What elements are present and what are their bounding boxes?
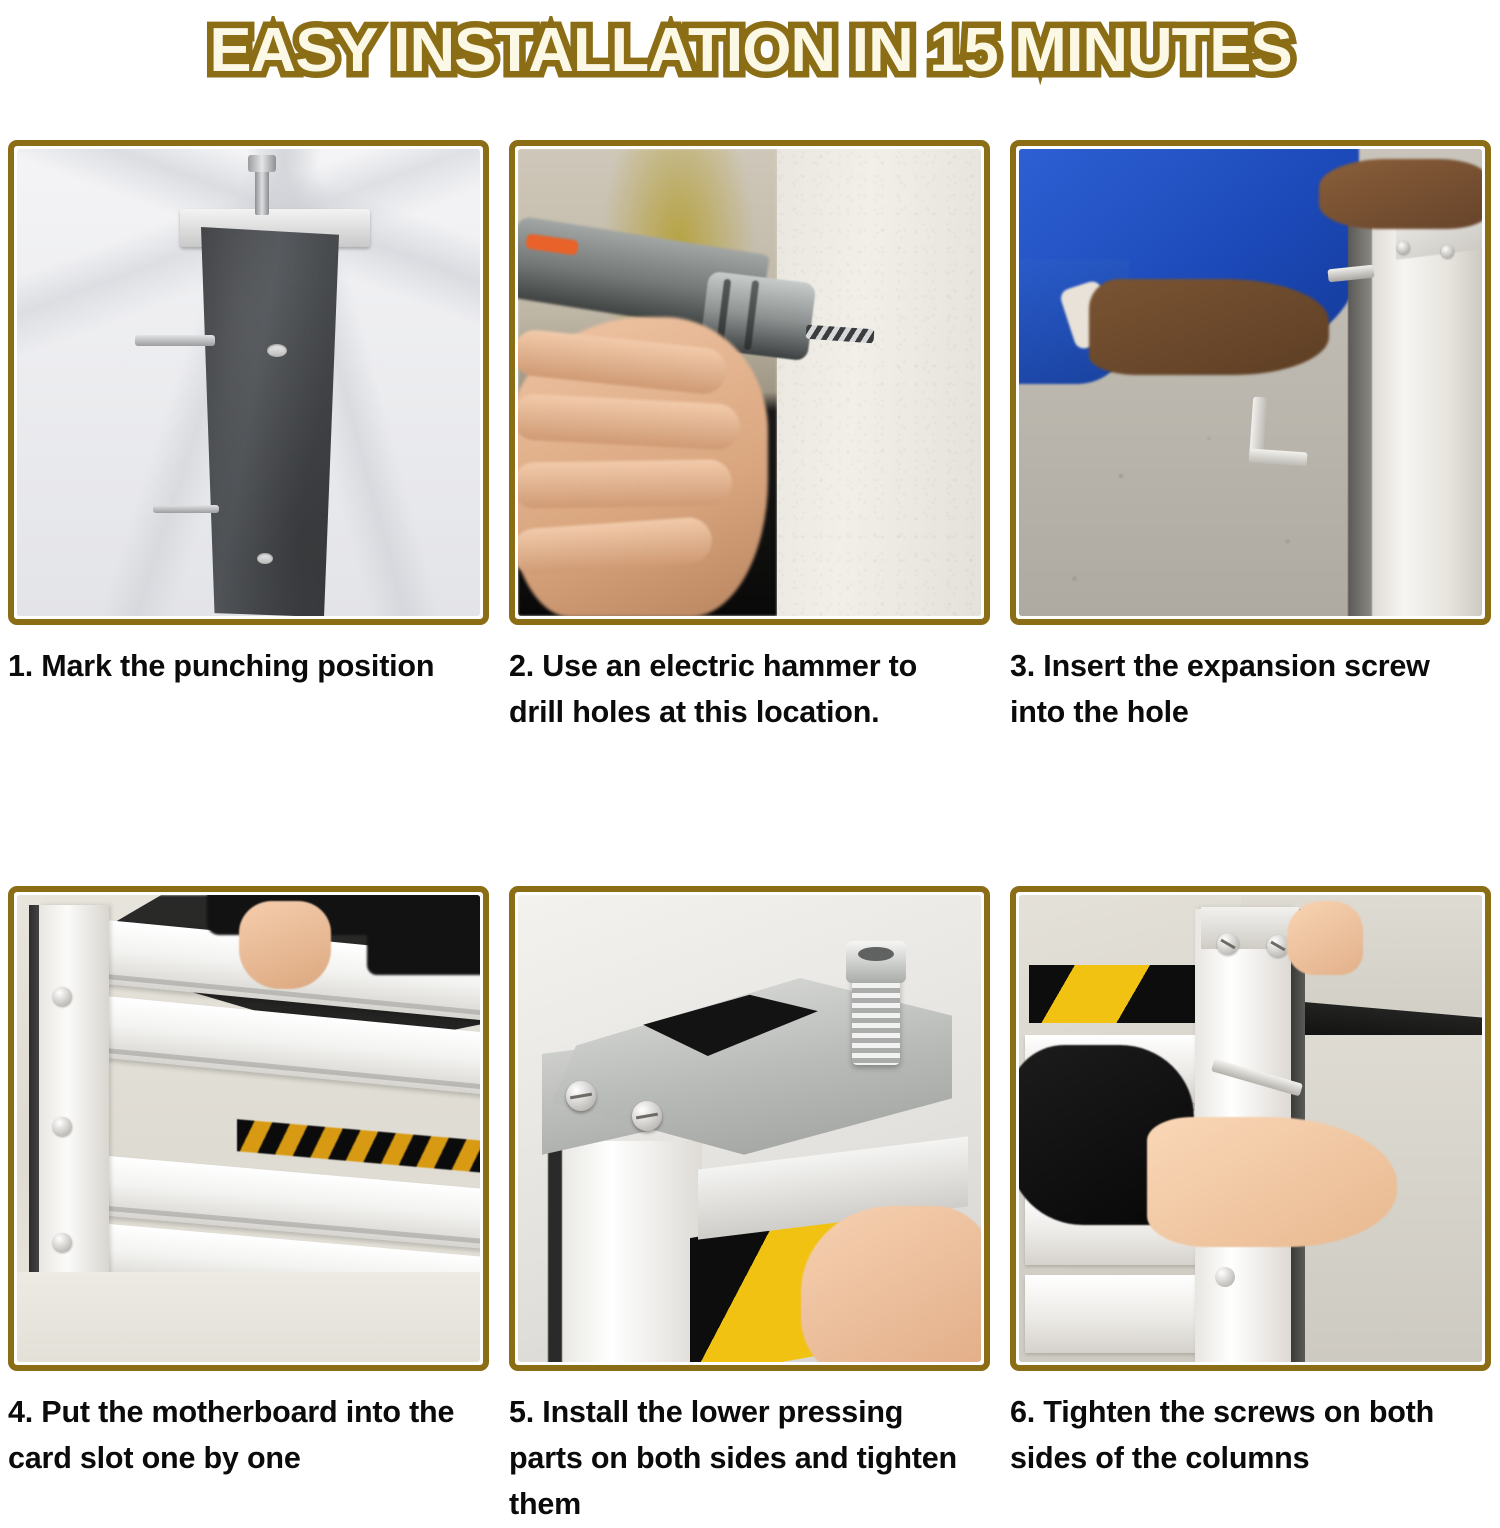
phillips-screw — [632, 1101, 662, 1131]
top-bolt-icon — [255, 167, 269, 215]
photo-drill-holes — [518, 149, 981, 616]
step-caption-1: 1. Mark the punching position — [8, 643, 473, 689]
step-card-2: 2. Use an electric hammer to drill holes… — [509, 140, 990, 736]
dark-sleeve — [367, 895, 480, 975]
steps-row-bottom: 4. Put the motherboard into the card slo… — [8, 886, 1492, 1528]
steps-row-top: 1. Mark the punching position — [8, 140, 1492, 736]
column-dark-edge — [548, 1141, 562, 1362]
step-image-5 — [509, 886, 990, 1371]
phillips-screw — [566, 1081, 596, 1111]
step-caption-3: 3. Insert the expansion screw into the h… — [1010, 643, 1475, 736]
step-caption-5: 5. Install the lower pressing parts on b… — [509, 1389, 979, 1528]
worker-upper-hand — [1319, 159, 1482, 229]
photo-motherboard-card-slot — [17, 895, 480, 1362]
step-card-6: 6. Tighten the screws on both sides of t… — [1010, 886, 1491, 1528]
expansion-stud-lower — [153, 505, 219, 513]
worker-forearm — [1089, 279, 1329, 375]
column-screw — [53, 1117, 72, 1136]
phillips-screw — [1217, 933, 1239, 955]
step-image-1 — [8, 140, 489, 625]
header-title-bar: EASY INSTALLATION IN 15 MINUTES — [0, 0, 1500, 100]
white-aluminum-column — [562, 1141, 702, 1362]
finger — [518, 459, 732, 509]
textured-wall — [777, 149, 981, 616]
white-aluminum-column — [1370, 207, 1482, 616]
expansion-stud-upper — [135, 335, 215, 346]
hand-tightening-screw — [1147, 1117, 1397, 1247]
step-card-4: 4. Put the motherboard into the card slo… — [8, 886, 489, 1528]
drill-hole-mark-lower — [257, 553, 273, 564]
step-image-3 — [1010, 140, 1491, 625]
drill-hole-mark-upper — [267, 344, 287, 357]
photo-tighten-screws — [1019, 895, 1482, 1362]
barrier-board — [1025, 1275, 1203, 1353]
white-aluminum-column — [39, 905, 109, 1335]
lower-column-screw — [1215, 1267, 1235, 1287]
step-image-2 — [509, 140, 990, 625]
photo-lower-pressing-parts — [518, 895, 981, 1362]
floor-strip — [17, 1272, 480, 1362]
step-card-5: 5. Install the lower pressing parts on b… — [509, 886, 990, 1528]
hex-bolt-head — [846, 941, 906, 983]
step-image-6 — [1010, 886, 1491, 1371]
column-screw — [1397, 241, 1410, 254]
page-title: EASY INSTALLATION IN 15 MINUTES — [209, 15, 1291, 86]
column-screw — [53, 1233, 72, 1252]
phillips-screw — [1267, 935, 1289, 957]
step-image-4 — [8, 886, 489, 1371]
step-caption-2: 2. Use an electric hammer to drill holes… — [509, 643, 974, 736]
step-card-1: 1. Mark the punching position — [8, 140, 489, 736]
column-screw — [53, 987, 72, 1006]
column-screw — [1441, 245, 1454, 258]
hand-placing-board — [239, 901, 331, 989]
steps-grid: 1. Mark the punching position — [8, 140, 1492, 1528]
step-card-3: 3. Insert the expansion screw into the h… — [1010, 140, 1491, 736]
second-hand — [1287, 901, 1363, 975]
photo-mark-punching-position — [17, 149, 480, 616]
photo-insert-expansion-screw — [1019, 149, 1482, 616]
hazard-stripe — [1029, 965, 1204, 1023]
